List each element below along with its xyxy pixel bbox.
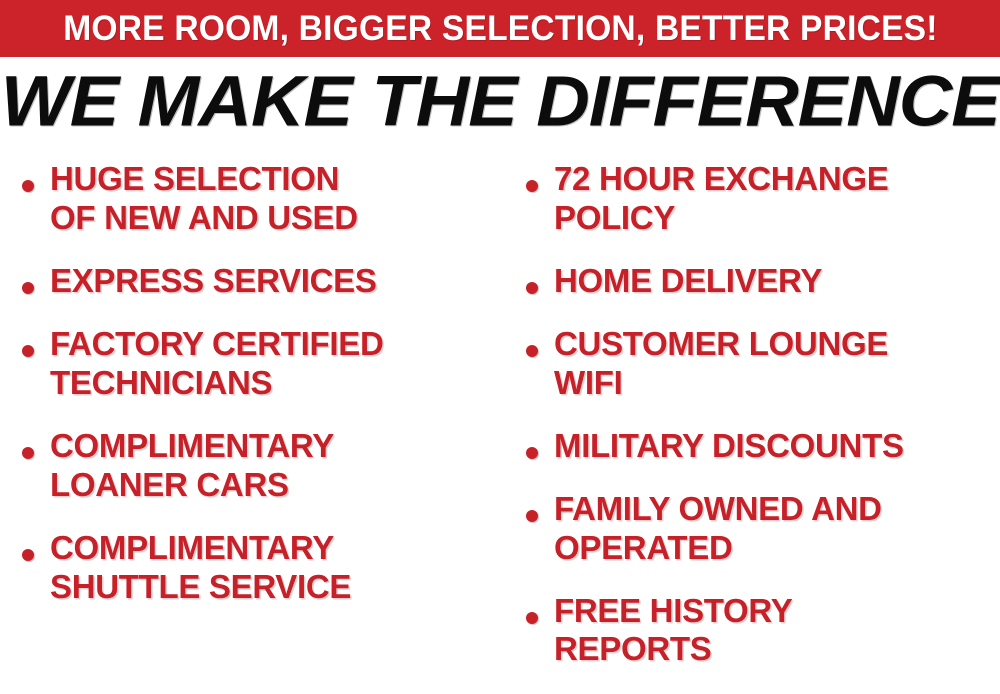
banner-headline-text: MORE ROOM, BIGGER SELECTION, BETTER PRIC… bbox=[63, 11, 937, 46]
list-item-label: FACTORY CERTIFIED TECHNICIANS bbox=[50, 325, 504, 403]
bullet-dot-icon bbox=[526, 612, 538, 624]
list-item-label: HOME DELIVERY bbox=[554, 262, 1000, 301]
list-item-label: COMPLIMENTARY SHUTTLE SERVICE bbox=[50, 529, 504, 607]
top-banner: MORE ROOM, BIGGER SELECTION, BETTER PRIC… bbox=[0, 0, 1000, 57]
benefits-column-left: HUGE SELECTION OF NEW AND USED EXPRESS S… bbox=[14, 160, 504, 694]
list-item: FAMILY OWNED AND OPERATED bbox=[514, 490, 1000, 568]
list-item: FACTORY CERTIFIED TECHNICIANS bbox=[14, 325, 504, 403]
benefits-column-right: 72 HOUR EXCHANGE POLICY HOME DELIVERY CU… bbox=[514, 160, 1000, 694]
list-item: COMPLIMENTARY LOANER CARS bbox=[14, 427, 504, 505]
bullet-dot-icon bbox=[22, 180, 34, 192]
bullet-dot-icon bbox=[22, 282, 34, 294]
page-title: WE MAKE THE DIFFERENCE bbox=[0, 65, 999, 136]
list-item-label: FREE HISTORY REPORTS bbox=[554, 592, 1000, 670]
bullet-dot-icon bbox=[526, 282, 538, 294]
list-item: HUGE SELECTION OF NEW AND USED bbox=[14, 160, 504, 238]
list-item: 72 HOUR EXCHANGE POLICY bbox=[514, 160, 1000, 238]
bullet-dot-icon bbox=[22, 345, 34, 357]
bullet-dot-icon bbox=[526, 510, 538, 522]
bullet-dot-icon bbox=[526, 180, 538, 192]
bullet-dot-icon bbox=[526, 345, 538, 357]
list-item-label: 72 HOUR EXCHANGE POLICY bbox=[554, 160, 1000, 238]
poster-canvas: MORE ROOM, BIGGER SELECTION, BETTER PRIC… bbox=[0, 0, 1000, 694]
list-item-label: HUGE SELECTION OF NEW AND USED bbox=[50, 160, 504, 238]
list-item-label: COMPLIMENTARY LOANER CARS bbox=[50, 427, 504, 505]
list-item: FREE HISTORY REPORTS bbox=[514, 592, 1000, 670]
list-item: HOME DELIVERY bbox=[514, 262, 1000, 301]
bullet-dot-icon bbox=[526, 447, 538, 459]
list-item-label: EXPRESS SERVICES bbox=[50, 262, 504, 301]
list-item: CUSTOMER LOUNGE WIFI bbox=[514, 325, 1000, 403]
bullet-dot-icon bbox=[22, 549, 34, 561]
list-item: COMPLIMENTARY SHUTTLE SERVICE bbox=[14, 529, 504, 607]
benefits-columns: HUGE SELECTION OF NEW AND USED EXPRESS S… bbox=[0, 160, 1000, 694]
bullet-dot-icon bbox=[22, 447, 34, 459]
list-item: MILITARY DISCOUNTS bbox=[514, 427, 1000, 466]
list-item-label: MILITARY DISCOUNTS bbox=[554, 427, 1000, 466]
list-item: EXPRESS SERVICES bbox=[14, 262, 504, 301]
list-item-label: CUSTOMER LOUNGE WIFI bbox=[554, 325, 1000, 403]
headline-container: WE MAKE THE DIFFERENCE bbox=[0, 62, 1000, 140]
list-item-label: FAMILY OWNED AND OPERATED bbox=[554, 490, 1000, 568]
